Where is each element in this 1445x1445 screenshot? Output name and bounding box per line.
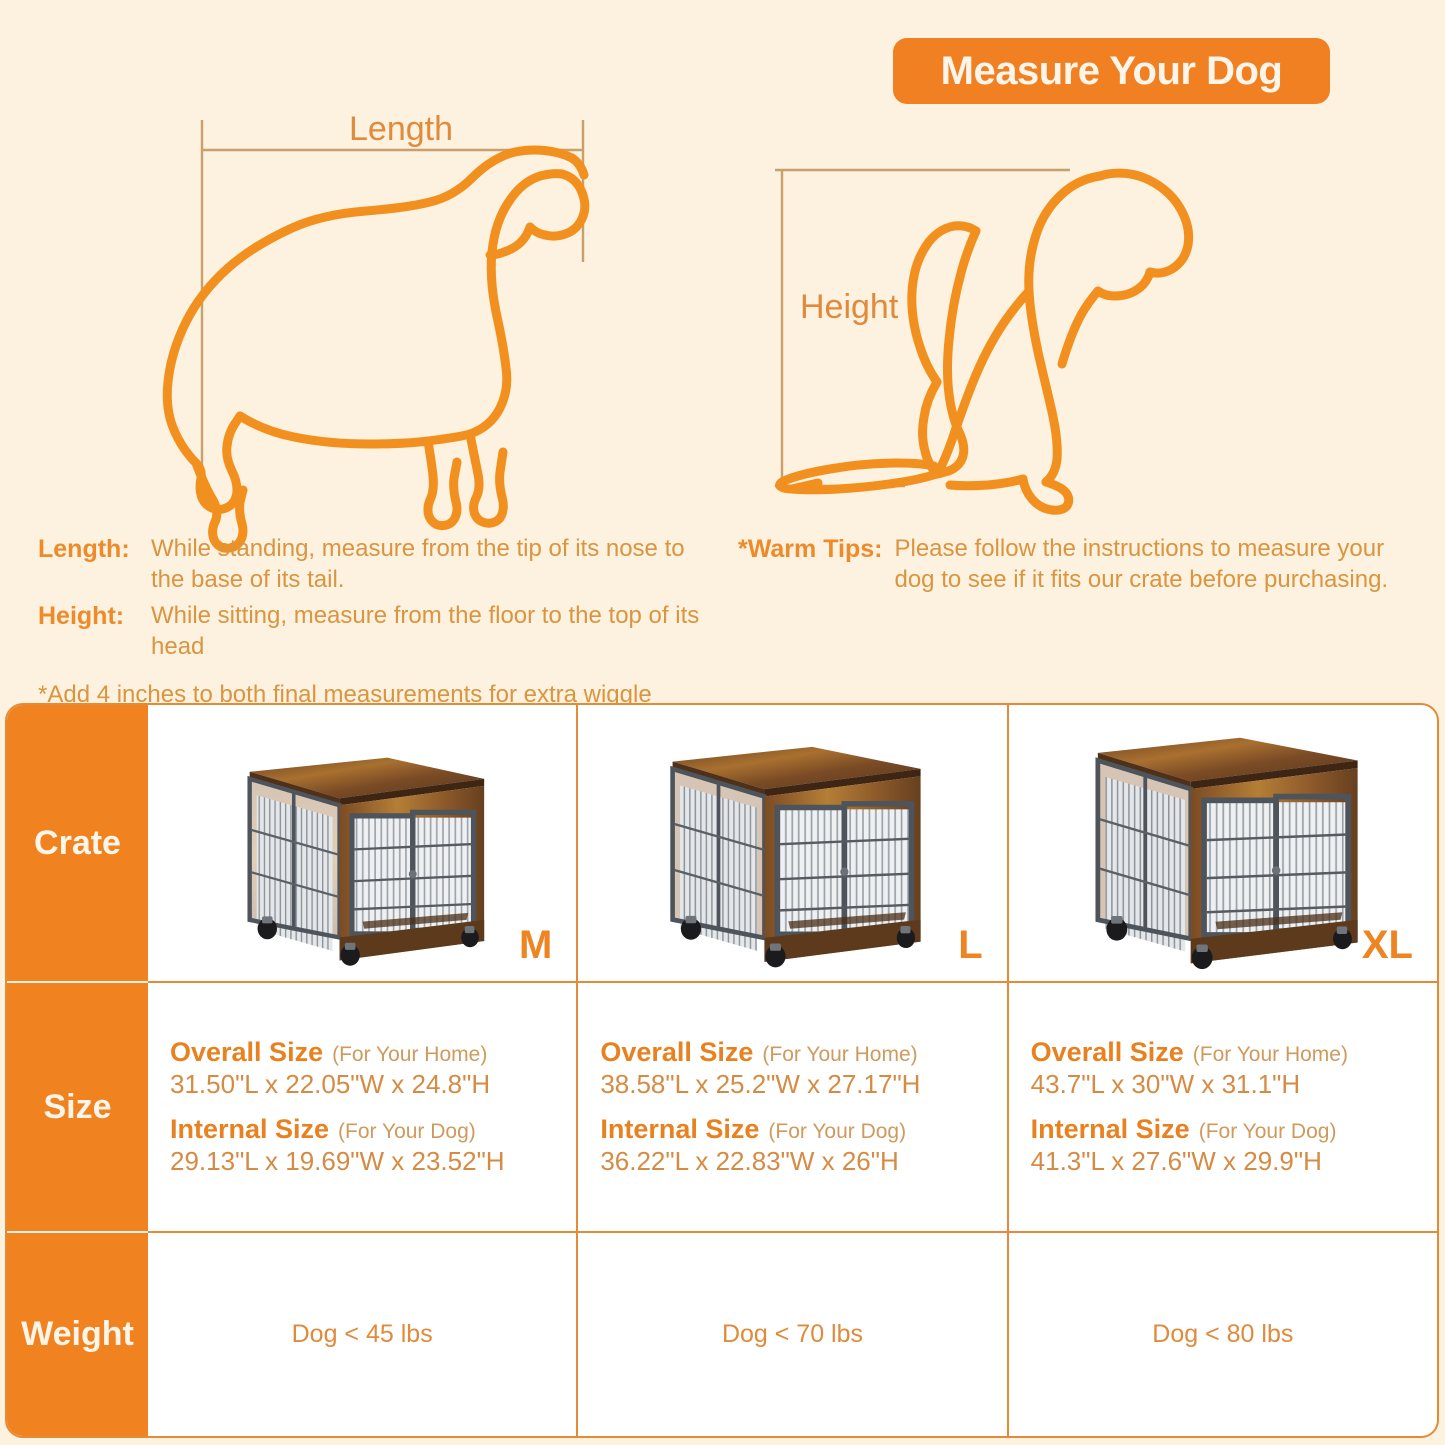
- crate-cell-xl: XL: [1007, 705, 1437, 981]
- internal-size-paren: (For Your Dog): [338, 1120, 476, 1144]
- overall-size-paren: (For Your Home): [332, 1043, 487, 1067]
- overall-size-paren: (For Your Home): [1193, 1043, 1348, 1067]
- overall-size-heading-m: Overall Size (For Your Home): [170, 1037, 487, 1068]
- size-cell-m: Overall Size (For Your Home) 31.50"L x 2…: [148, 983, 576, 1231]
- dog-standing-outline-icon: [167, 150, 585, 548]
- warm-tips-block: *Warm Tips: Please follow the instructio…: [738, 534, 1428, 601]
- overall-size-dims-m: 31.50"L x 22.05"W x 24.8"H: [170, 1069, 490, 1100]
- row-label-weight: Weight: [7, 1231, 148, 1436]
- internal-size-dims-m: 29.13"L x 19.69"W x 23.52"H: [170, 1146, 505, 1177]
- weight-cell-xl: Dog < 80 lbs: [1007, 1233, 1437, 1436]
- dog-sitting-outline-icon: [780, 173, 1189, 510]
- crate-cell-l: L: [576, 705, 1006, 981]
- size-cell-xl: Overall Size (For Your Home) 43.7"L x 30…: [1007, 983, 1437, 1231]
- height-label: Height: [800, 288, 899, 326]
- length-dimension-lines: [202, 120, 583, 495]
- table-row-size: Size Overall Size (For Your Home) 31.50"…: [7, 981, 1437, 1231]
- overall-size-label: Overall Size: [170, 1037, 323, 1068]
- note-height: Height: While sitting, measure from the …: [38, 601, 718, 662]
- note-length-value: While standing, measure from the tip of …: [151, 534, 718, 595]
- table-row-crate: Crate: [7, 705, 1437, 981]
- weight-cell-m: Dog < 45 lbs: [148, 1233, 576, 1436]
- overall-size-heading-l: Overall Size (For Your Home): [600, 1037, 917, 1068]
- size-badge-m: M: [519, 925, 552, 965]
- weight-value-m: Dog < 45 lbs: [292, 1320, 433, 1349]
- note-height-key: Height:: [38, 601, 141, 631]
- weight-value-l: Dog < 70 lbs: [722, 1320, 863, 1349]
- size-badge-xl: XL: [1362, 925, 1413, 965]
- internal-size-label: Internal Size: [170, 1114, 329, 1145]
- overall-size-dims-xl: 43.7"L x 30"W x 31.1"H: [1031, 1069, 1301, 1100]
- crate-size-table: Crate: [5, 703, 1439, 1438]
- internal-size-heading-xl: Internal Size (For Your Dog): [1031, 1114, 1337, 1145]
- dog-crate-furniture-icon: [230, 733, 495, 971]
- warm-tips-key: *Warm Tips:: [738, 534, 882, 564]
- note-length: Length: While standing, measure from the…: [38, 534, 718, 595]
- weight-value-xl: Dog < 80 lbs: [1152, 1320, 1293, 1349]
- overall-size-heading-xl: Overall Size (For Your Home): [1031, 1037, 1348, 1068]
- internal-size-heading-l: Internal Size (For Your Dog): [600, 1114, 906, 1145]
- warm-tips-value: Please follow the instructions to measur…: [894, 534, 1428, 595]
- length-label: Length: [349, 110, 453, 148]
- note-length-key: Length:: [38, 534, 141, 564]
- internal-size-heading-m: Internal Size (For Your Dog): [170, 1114, 476, 1145]
- size-badge-l: L: [958, 925, 982, 965]
- overall-size-label: Overall Size: [600, 1037, 753, 1068]
- internal-size-label: Internal Size: [1031, 1114, 1190, 1145]
- overall-size-label: Overall Size: [1031, 1037, 1184, 1068]
- internal-size-label: Internal Size: [600, 1114, 759, 1145]
- dog-crate-furniture-icon: [647, 723, 937, 971]
- row-label-crate: Crate: [7, 705, 148, 981]
- size-cell-l: Overall Size (For Your Home) 38.58"L x 2…: [576, 983, 1006, 1231]
- weight-cell-l: Dog < 70 lbs: [576, 1233, 1006, 1436]
- overall-size-dims-l: 38.58"L x 25.2"W x 27.17"H: [600, 1069, 920, 1100]
- row-label-size: Size: [7, 981, 148, 1231]
- note-warm-tips: *Warm Tips: Please follow the instructio…: [738, 534, 1428, 595]
- internal-size-paren: (For Your Dog): [768, 1120, 906, 1144]
- internal-size-dims-l: 36.22"L x 22.83"W x 26"H: [600, 1146, 898, 1177]
- crate-cell-m: M: [148, 705, 576, 981]
- overall-size-paren: (For Your Home): [762, 1043, 917, 1067]
- note-height-value: While sitting, measure from the floor to…: [151, 601, 718, 662]
- internal-size-dims-xl: 41.3"L x 27.6"W x 29.9"H: [1031, 1146, 1322, 1177]
- table-row-weight: Weight Dog < 45 lbs Dog < 70 lbs Dog < 8…: [7, 1231, 1437, 1436]
- dog-crate-furniture-icon: [1067, 715, 1379, 971]
- internal-size-paren: (For Your Dog): [1199, 1120, 1337, 1144]
